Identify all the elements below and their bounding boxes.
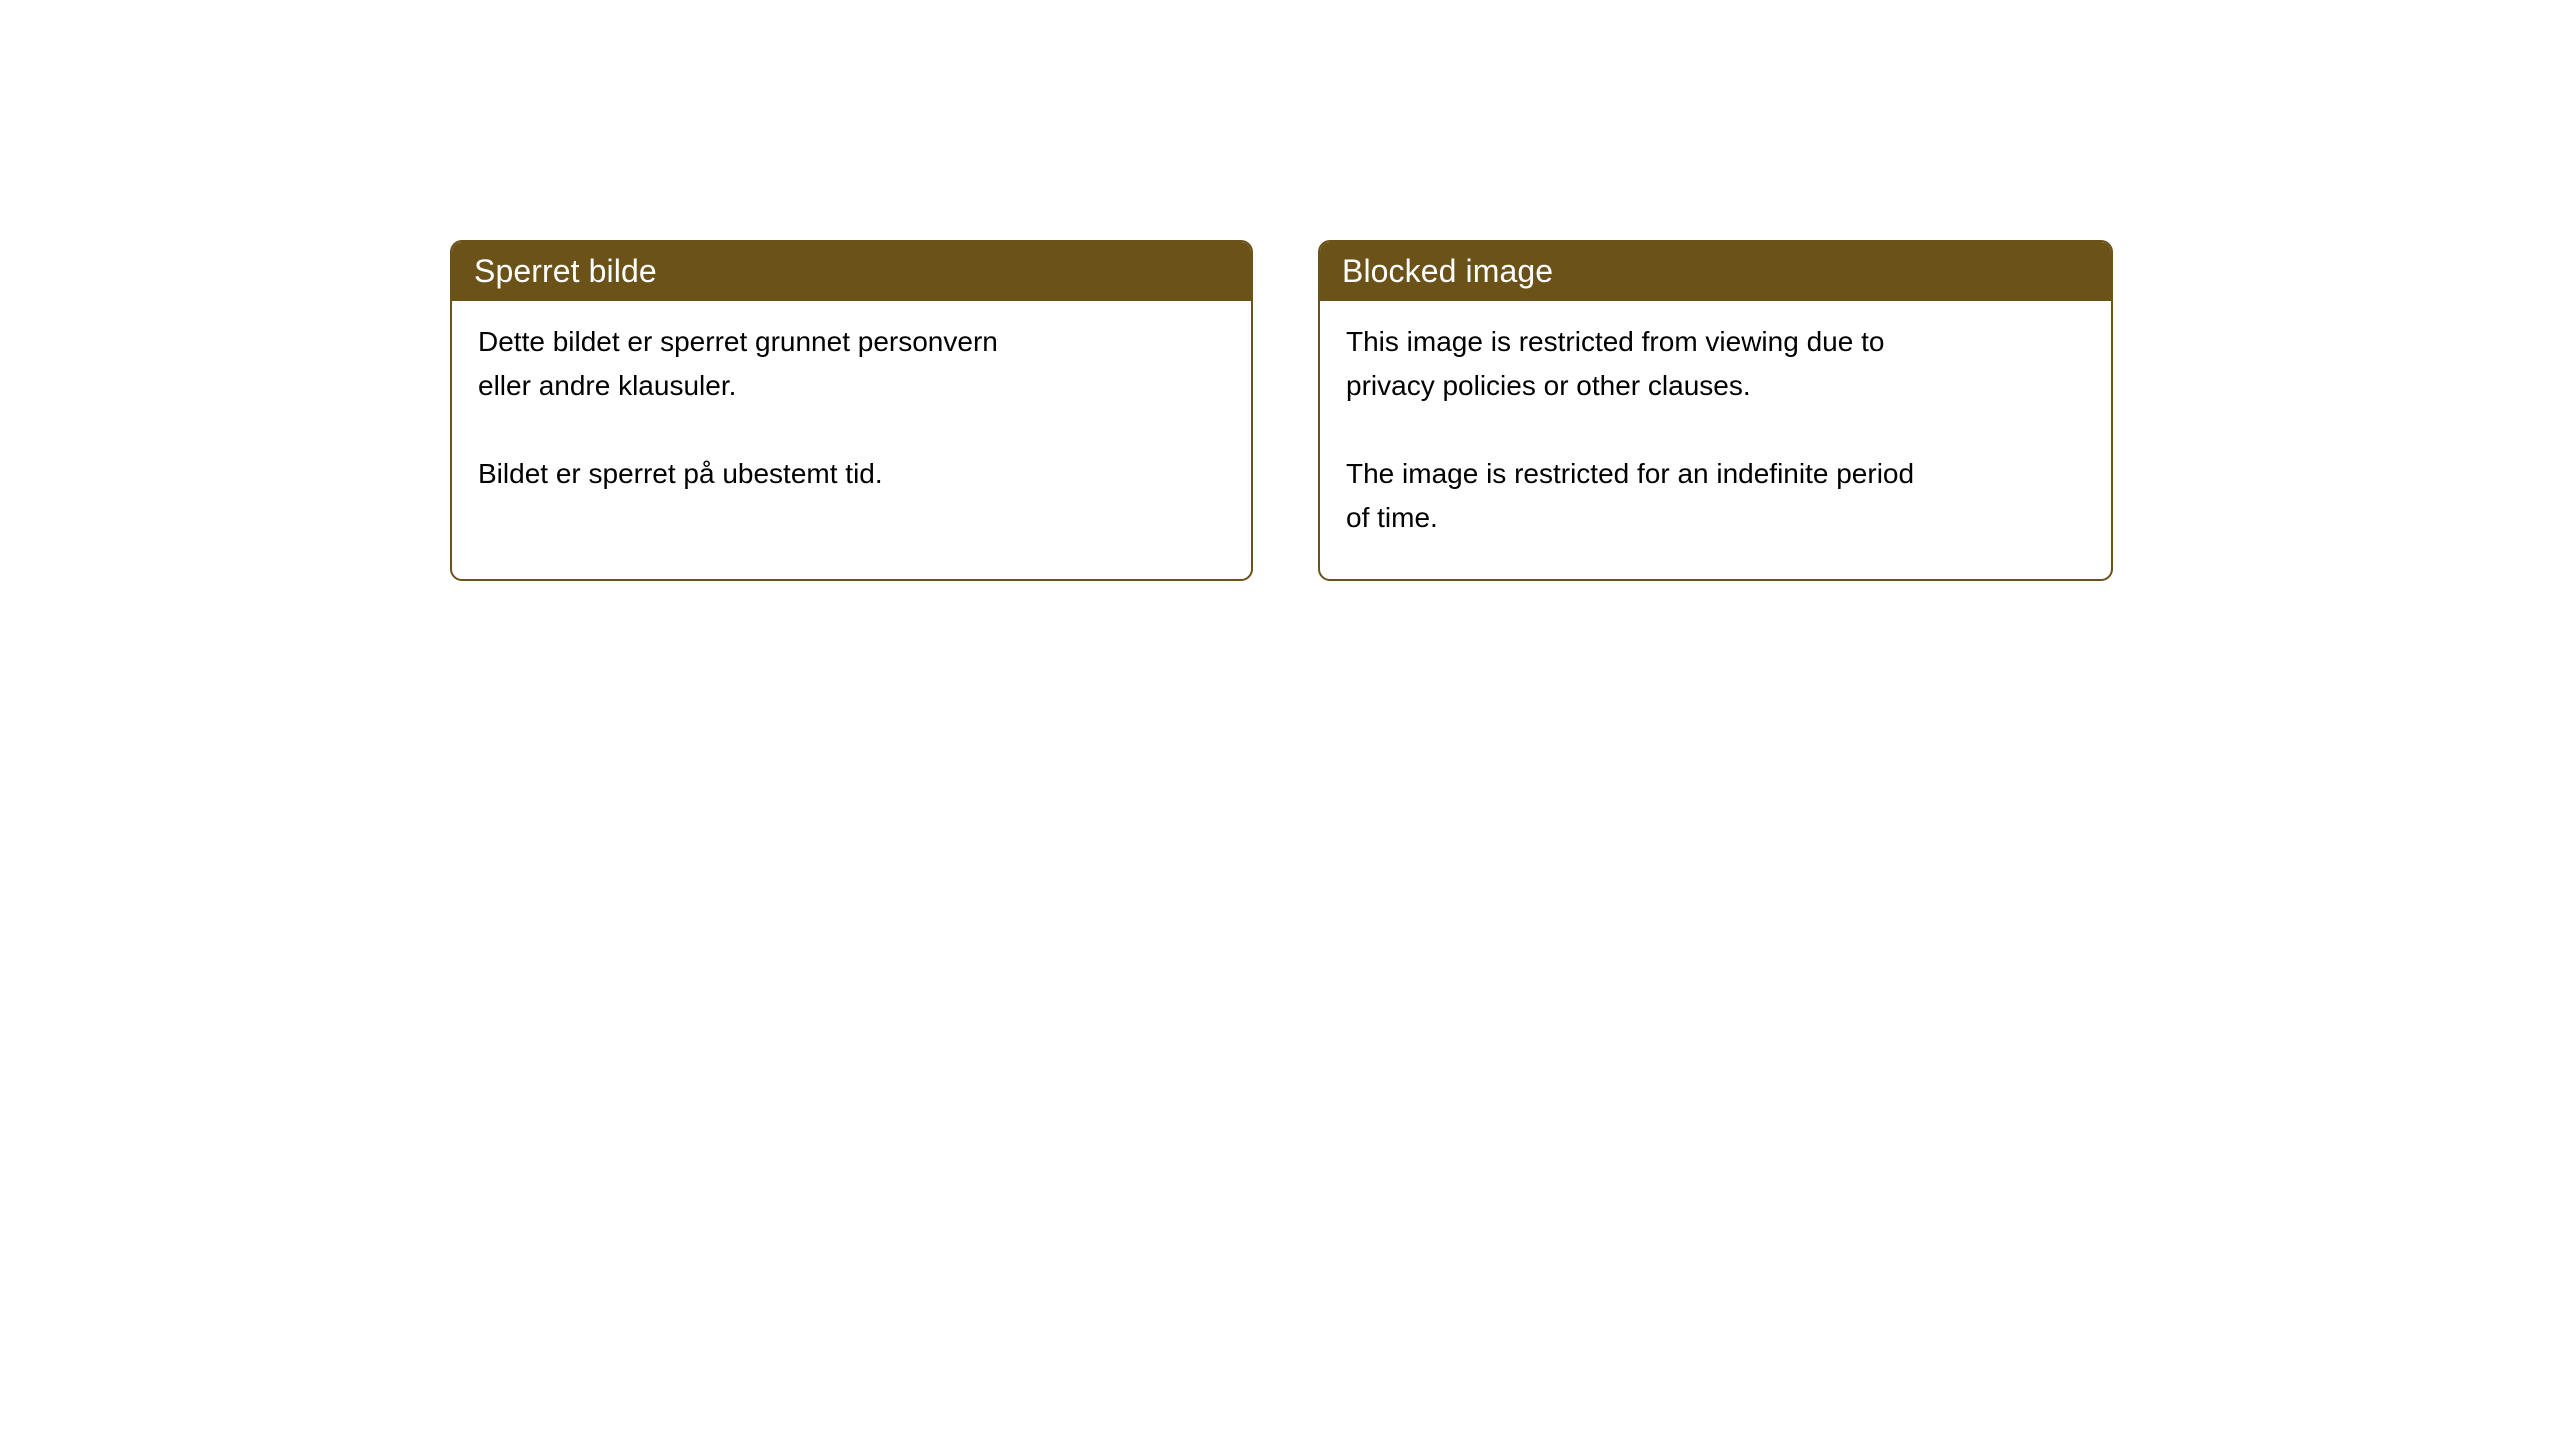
card-title-norwegian: Sperret bilde — [474, 252, 657, 290]
card-paragraph-duration-norwegian: Bildet er sperret på ubestemt tid. — [478, 452, 1229, 496]
card-title-english: Blocked image — [1342, 252, 1553, 290]
card-paragraph-duration-english: The image is restricted for an indefinit… — [1346, 452, 2089, 540]
page-root: Sperret bilde Dette bildet er sperret gr… — [0, 0, 2560, 1440]
card-body-english: This image is restricted from viewing du… — [1320, 301, 2111, 540]
card-body-norwegian: Dette bildet er sperret grunnet personve… — [452, 301, 1251, 496]
card-paragraph-reason-english: This image is restricted from viewing du… — [1346, 320, 2089, 408]
card-header-norwegian: Sperret bilde — [451, 241, 1252, 301]
card-header-english: Blocked image — [1319, 241, 2112, 301]
card-paragraph-reason-norwegian: Dette bildet er sperret grunnet personve… — [478, 320, 1229, 408]
blocked-image-notice-card-english: Blocked image This image is restricted f… — [1318, 240, 2113, 581]
blocked-image-notice-card-norwegian: Sperret bilde Dette bildet er sperret gr… — [450, 240, 1253, 581]
